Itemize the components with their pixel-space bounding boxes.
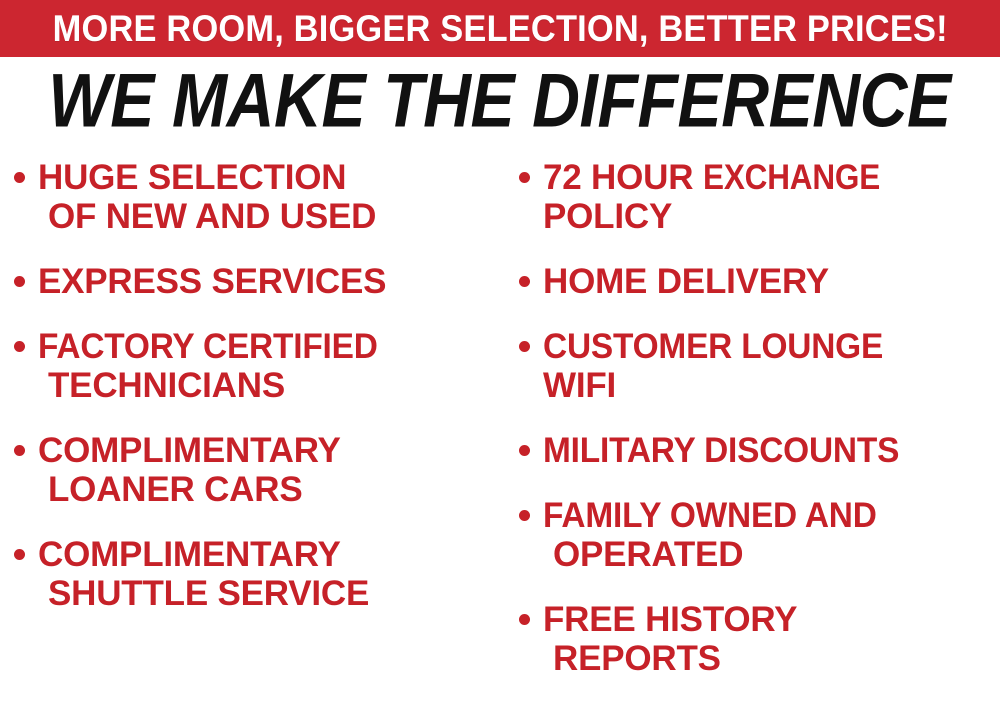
list-item-line: WIFI xyxy=(543,366,1000,405)
list-item-text: COMPLIMENTARY LOANER CARS xyxy=(38,431,503,509)
list-item-line: OF NEW AND USED xyxy=(38,197,503,236)
bullet-dot-icon xyxy=(519,341,530,352)
list-item-line: HOME DELIVERY xyxy=(543,262,1000,301)
list-item-text: EXPRESS SERVICES xyxy=(38,262,503,301)
list-item-line: COMPLIMENTARY xyxy=(38,535,503,574)
list-item: COMPLIMENTARY LOANER CARS xyxy=(14,431,503,509)
list-item-text: HOME DELIVERY xyxy=(543,262,1000,301)
bullet-dot-icon xyxy=(14,549,25,560)
headline-container: WE MAKE THE DIFFERENCE xyxy=(0,62,1000,140)
list-item-text: HUGE SELECTION OF NEW AND USED xyxy=(38,158,503,236)
bullet-dot-icon xyxy=(14,276,25,287)
list-item: HUGE SELECTION OF NEW AND USED xyxy=(14,158,503,236)
list-item-text: COMPLIMENTARY SHUTTLE SERVICE xyxy=(38,535,503,613)
list-item-line: SHUTTLE SERVICE xyxy=(38,574,503,613)
list-item-line: TECHNICIANS xyxy=(38,366,503,405)
list-item-line: 72 HOUR EXCHANGE xyxy=(543,158,1000,197)
list-item-line: EXPRESS SERVICES xyxy=(38,262,503,301)
benefits-column-right: 72 HOUR EXCHANGE POLICY HOME DELIVERY CU… xyxy=(505,158,1000,704)
list-item-line: CUSTOMER LOUNGE xyxy=(543,327,979,366)
bullet-dot-icon xyxy=(519,510,530,521)
promo-poster: MORE ROOM, BIGGER SELECTION, BETTER PRIC… xyxy=(0,0,1000,694)
bullet-dot-icon xyxy=(519,276,530,287)
list-item-line: FREE HISTORY xyxy=(543,600,1000,639)
list-item-line: MILITARY DISCOUNTS xyxy=(543,431,979,470)
list-item: FAMILY OWNED AND OPERATED xyxy=(519,496,1000,574)
bullet-dot-icon xyxy=(519,614,530,625)
list-item-text: CUSTOMER LOUNGE WIFI xyxy=(543,327,1000,405)
list-item: 72 HOUR EXCHANGE POLICY xyxy=(519,158,1000,236)
top-banner: MORE ROOM, BIGGER SELECTION, BETTER PRIC… xyxy=(0,0,1000,57)
list-item-line: COMPLIMENTARY xyxy=(38,431,503,470)
list-item-line: OPERATED xyxy=(543,535,1000,574)
list-item-text: FAMILY OWNED AND OPERATED xyxy=(543,496,1000,574)
list-item: COMPLIMENTARY SHUTTLE SERVICE xyxy=(14,535,503,613)
list-item: MILITARY DISCOUNTS xyxy=(519,431,1000,470)
list-item-text: FACTORY CERTIFIED TECHNICIANS xyxy=(38,327,503,405)
page-title: WE MAKE THE DIFFERENCE xyxy=(49,63,952,139)
list-item-line: POLICY xyxy=(543,197,1000,236)
list-item-text: 72 HOUR EXCHANGE POLICY xyxy=(543,158,1000,236)
benefits-column-left: HUGE SELECTION OF NEW AND USED EXPRESS S… xyxy=(0,158,505,639)
banner-headline-text: MORE ROOM, BIGGER SELECTION, BETTER PRIC… xyxy=(52,10,947,47)
bullet-dot-icon xyxy=(14,341,25,352)
bullet-dot-icon xyxy=(519,445,530,456)
list-item: HOME DELIVERY xyxy=(519,262,1000,301)
list-item-text: MILITARY DISCOUNTS xyxy=(543,431,1000,470)
list-item-line: HUGE SELECTION xyxy=(38,158,503,197)
list-item: EXPRESS SERVICES xyxy=(14,262,503,301)
list-item-line: REPORTS xyxy=(543,639,1000,678)
list-item: FACTORY CERTIFIED TECHNICIANS xyxy=(14,327,503,405)
list-item-line-part: 72 HOUR xyxy=(543,158,703,197)
bullet-dot-icon xyxy=(14,445,25,456)
list-item-line: LOANER CARS xyxy=(38,470,503,509)
list-item: FREE HISTORY REPORTS xyxy=(519,600,1000,678)
list-item: CUSTOMER LOUNGE WIFI xyxy=(519,327,1000,405)
benefits-columns: HUGE SELECTION OF NEW AND USED EXPRESS S… xyxy=(0,158,1000,694)
list-item-line-part: EXCHANGE xyxy=(703,158,880,197)
list-item-text: FREE HISTORY REPORTS xyxy=(543,600,1000,678)
list-item-line: FAMILY OWNED AND xyxy=(543,496,979,535)
bullet-dot-icon xyxy=(14,172,25,183)
bullet-dot-icon xyxy=(519,172,530,183)
list-item-line: FACTORY CERTIFIED xyxy=(38,327,482,366)
